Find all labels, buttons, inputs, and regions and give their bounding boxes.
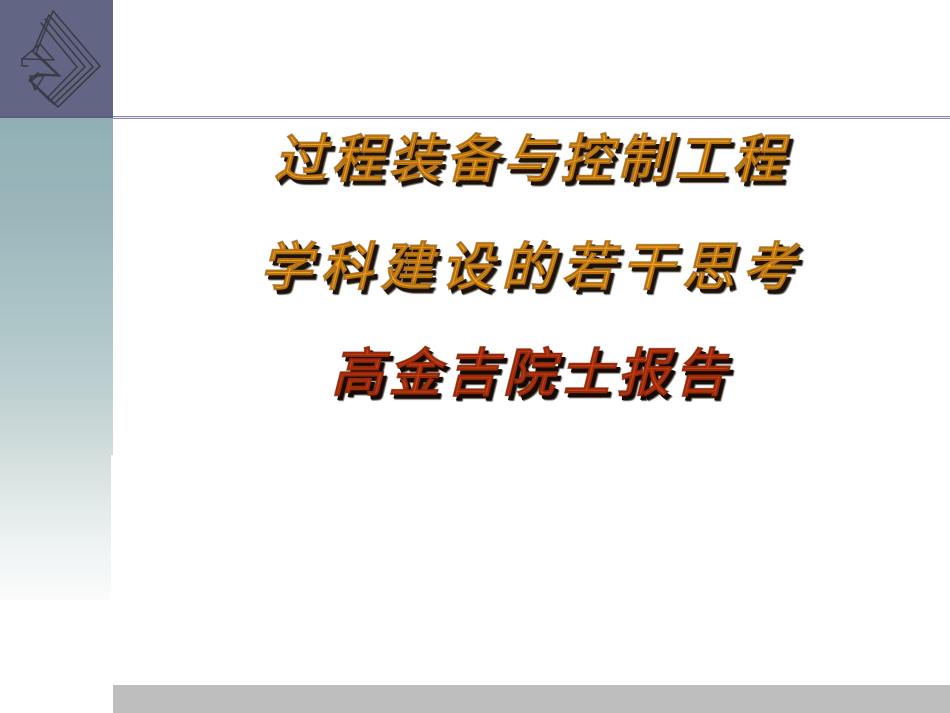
title-line-3: 高金吉院士报告 [113,348,950,400]
title-line-2: 学科建设的若干思考 [113,242,950,294]
title-line-1: 过程装备与控制工程 [113,134,950,186]
logo-block [0,0,113,116]
stacked-chevron-logo-icon [8,4,106,112]
title-stack: 过程装备与控制工程 学科建设的若干思考 高金吉院士报告 [113,118,950,448]
sidebar-gradient-lower [0,455,111,600]
sidebar-gradient-upper [0,118,113,455]
footer-bar [113,685,950,713]
presentation-slide: 过程装备与控制工程 学科建设的若干思考 高金吉院士报告 [0,0,950,713]
